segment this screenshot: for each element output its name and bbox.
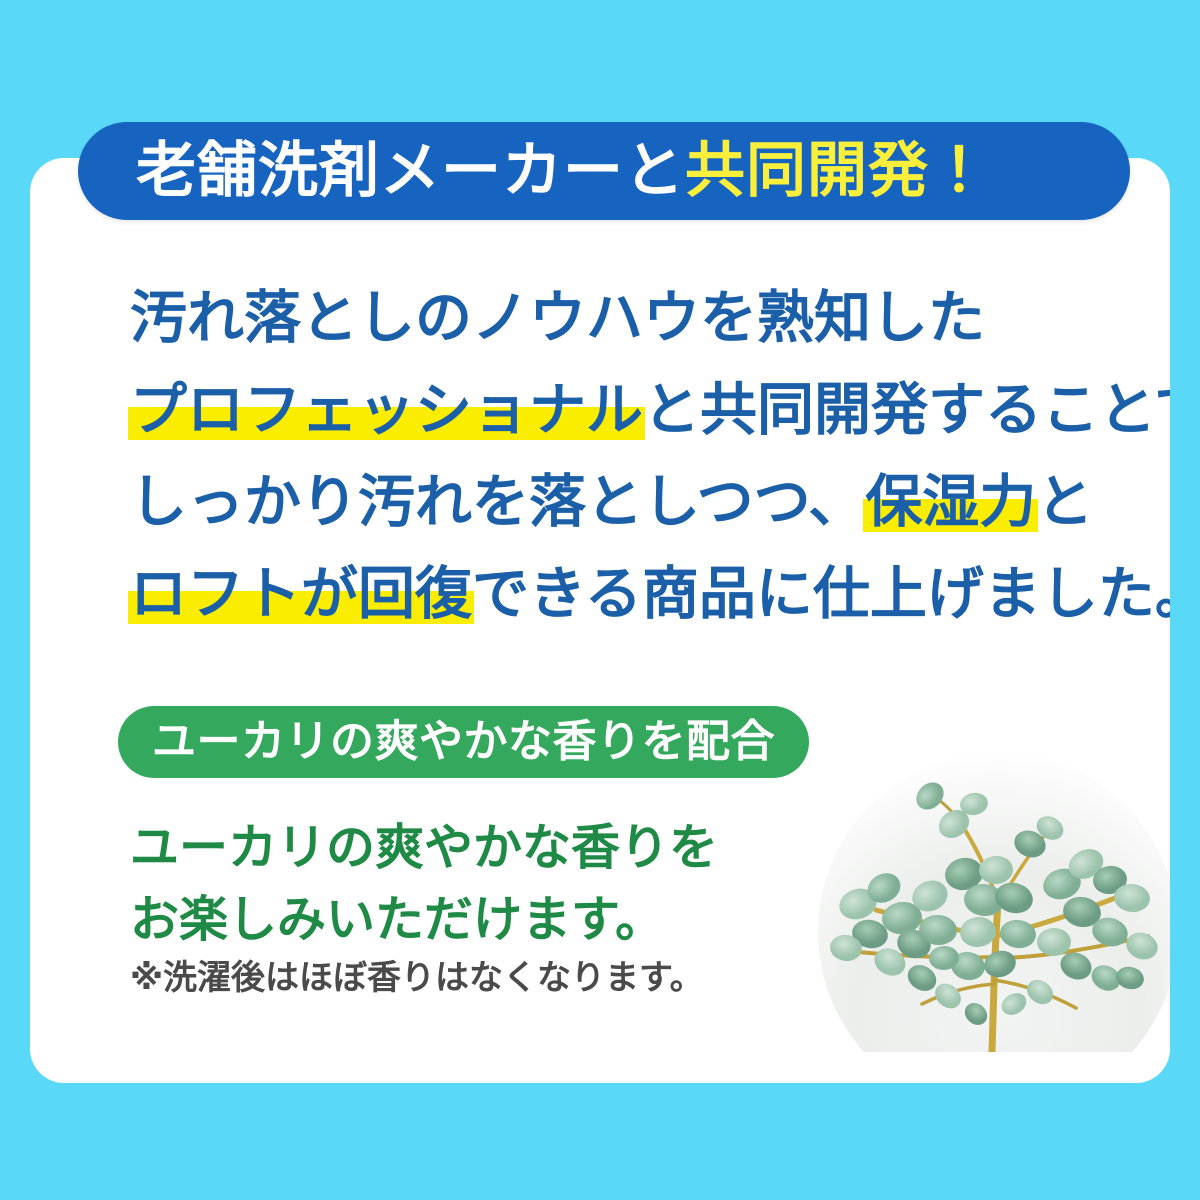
headline-banner: 老舗洗剤メーカーと共同開発！ <box>78 122 1130 220</box>
fragrance-description: ユーカリの爽やかな香りを お楽しみいただけます。 <box>130 812 718 956</box>
fragrance-footnote: ※洗濯後はほぼ香りはなくなります。 <box>130 958 704 999</box>
benefit-line-3-text-a: しっかり汚れを落としつつ、 <box>130 470 865 534</box>
benefit-line-3-highlight: 保湿力 <box>865 456 1036 548</box>
fragrance-badge-label: ユーカリの爽やかな香りを配合 <box>152 720 775 764</box>
headline-text-highlight: 共同開発！ <box>685 137 990 204</box>
content-card: 汚れ落としのノウハウを熟知した プロフェッショナルと共同開発することで しっかり… <box>30 158 1170 1083</box>
headline-text: 老舗洗剤メーカーと共同開発！ <box>78 141 990 201</box>
headline-text-plain: 老舗洗剤メーカーと <box>136 137 685 204</box>
eucalyptus-plant-icon <box>818 752 1170 1052</box>
benefit-line-4: ロフトが回復できる商品に仕上げました。 <box>130 548 1130 640</box>
benefit-paragraph: 汚れ落としのノウハウを熟知した プロフェッショナルと共同開発することで しっかり… <box>130 272 1130 640</box>
benefit-line-2: プロフェッショナルと共同開発することで <box>130 364 1130 456</box>
fragrance-badge: ユーカリの爽やかな香りを配合 <box>118 706 809 778</box>
benefit-line-3-text-b: と <box>1036 470 1093 534</box>
benefit-line-2-text: と共同開発することで <box>643 378 1170 442</box>
benefit-line-4-text: できる商品に仕上げました。 <box>472 562 1170 626</box>
benefit-line-1-text: 汚れ落としのノウハウを熟知した <box>130 286 985 350</box>
benefit-line-3: しっかり汚れを落としつつ、保湿力と <box>130 456 1130 548</box>
fragrance-line-1: ユーカリの爽やかな香りを <box>130 812 718 884</box>
advertisement-banner: 汚れ落としのノウハウを熟知した プロフェッショナルと共同開発することで しっかり… <box>0 0 1200 1200</box>
benefit-line-4-highlight: ロフトが回復 <box>130 548 472 640</box>
benefit-line-2-highlight: プロフェッショナル <box>130 364 643 456</box>
eucalyptus-photo <box>818 752 1170 1052</box>
benefit-line-1: 汚れ落としのノウハウを熟知した <box>130 272 1130 364</box>
fragrance-line-2: お楽しみいただけます。 <box>130 884 718 956</box>
